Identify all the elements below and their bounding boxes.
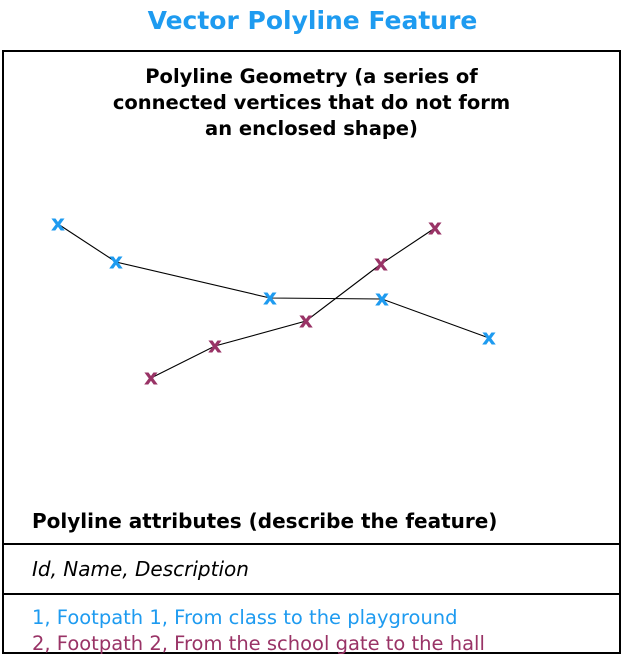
- geometry-subtitle: Polyline Geometry (a series of connected…: [4, 64, 619, 142]
- geometry-subtitle-line-1: Polyline Geometry (a series of: [4, 64, 619, 90]
- vertex-marker-x-icon: x: [482, 326, 496, 351]
- vertex-marker-x-icon: x: [374, 252, 388, 277]
- feature-panel: Polyline Geometry (a series of connected…: [2, 50, 621, 654]
- vertex-marker-x-icon: x: [109, 250, 123, 275]
- polyline-path: [151, 228, 435, 378]
- attribute-record-1: 1, Footpath 1, From class to the playgro…: [4, 605, 619, 631]
- attribute-record-2: 2, Footpath 2, From the school gate to t…: [4, 631, 619, 657]
- geometry-subtitle-line-3: an enclosed shape): [4, 116, 619, 142]
- attributes-header-row: Polyline attributes (describe the featur…: [4, 498, 619, 545]
- page-root: Vector Polyline Feature Polyline Geometr…: [0, 0, 625, 659]
- vertex-marker-x-icon: x: [299, 309, 313, 334]
- attribute-fields-row: Id, Name, Description: [4, 545, 619, 595]
- polyline-path: [58, 224, 489, 338]
- vertex-marker-x-icon: x: [51, 212, 65, 237]
- attributes-header-label: Polyline attributes (describe the featur…: [4, 509, 497, 533]
- vertex-marker-x-icon: x: [144, 366, 158, 391]
- page-title: Vector Polyline Feature: [0, 6, 625, 35]
- vertex-marker-x-icon: x: [428, 216, 442, 241]
- attribute-records: 1, Footpath 1, From class to the playgro…: [4, 595, 619, 652]
- vertex-marker-x-icon: x: [263, 286, 277, 311]
- vertex-marker-x-icon: x: [375, 287, 389, 312]
- geometry-subtitle-line-2: connected vertices that do not form: [4, 90, 619, 116]
- attribute-fields-label: Id, Name, Description: [4, 557, 249, 581]
- vertex-marker-x-icon: x: [208, 334, 222, 359]
